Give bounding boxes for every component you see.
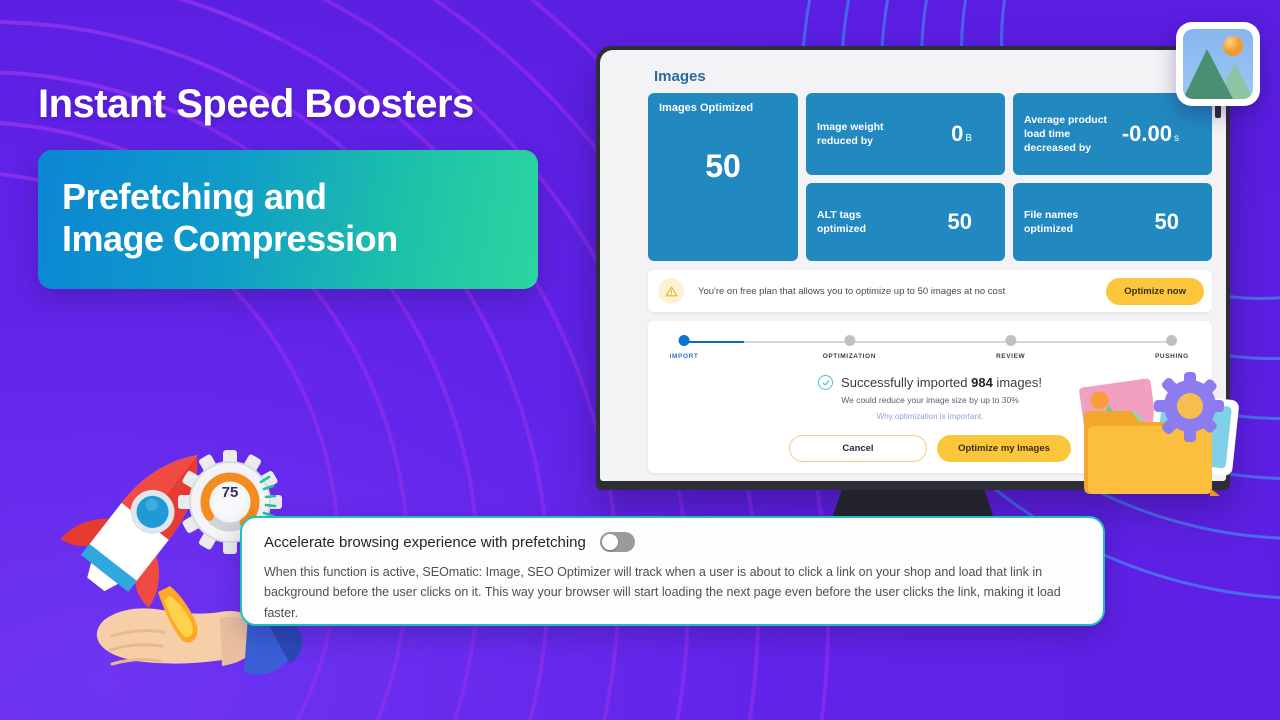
step-label: REVIEW: [996, 353, 1025, 360]
free-plan-text: You're on free plan that allows you to o…: [698, 286, 1106, 297]
page-title: Instant Speed Boosters: [38, 82, 558, 126]
prefetch-header: Accelerate browsing experience with pref…: [264, 532, 1083, 552]
badge-photo: [1183, 29, 1253, 99]
photo-mountain-icon: [1176, 22, 1260, 118]
success-prefix: Successfully imported: [841, 375, 971, 390]
step-label: PUSHING: [1155, 353, 1189, 360]
stat-card-file-names: File names optimized 50: [1013, 183, 1212, 261]
stat-unit: B: [965, 133, 972, 144]
subtitle-card: Prefetching and Image Compression: [38, 150, 538, 289]
step-dot: [678, 335, 689, 346]
subtitle-line-1: Prefetching and: [62, 176, 514, 218]
stepper-track: [684, 341, 1176, 343]
import-success-title: Successfully imported 984 images!: [841, 375, 1042, 390]
toggle-knob: [602, 534, 618, 550]
stat-unit: s: [1174, 133, 1179, 144]
step-dot: [1166, 335, 1177, 346]
wizard-stepper: IMPORT OPTIMIZATION REVIEW PUSHING: [678, 335, 1182, 365]
step-optimization[interactable]: OPTIMIZATION: [823, 335, 876, 360]
optimize-now-button[interactable]: Optimize now: [1106, 278, 1204, 305]
cancel-button[interactable]: Cancel: [789, 435, 927, 462]
stat-label: Image weight reduced by: [817, 120, 909, 148]
step-review[interactable]: REVIEW: [996, 335, 1025, 360]
stats-grid: Images Optimized 50 Image weight reduced…: [648, 93, 1212, 261]
gauge-value: 75: [178, 484, 282, 501]
stat-card-image-weight: Image weight reduced by 0B: [806, 93, 1005, 175]
prefetch-setting-card: Accelerate browsing experience with pref…: [240, 516, 1105, 626]
folder-gear-photos-icon: [1062, 362, 1262, 522]
optimize-my-images-button[interactable]: Optimize my Images: [937, 435, 1071, 462]
stat-number: -0.00: [1122, 121, 1172, 146]
step-label: OPTIMIZATION: [823, 353, 876, 360]
badge-frame: [1176, 22, 1260, 106]
prefetch-toggle[interactable]: [600, 532, 635, 552]
success-suffix: images!: [993, 375, 1042, 390]
stat-label: Average product load time decreased by: [1024, 113, 1116, 156]
stat-card-images-optimized: Images Optimized 50: [648, 93, 798, 261]
step-import[interactable]: IMPORT: [670, 335, 699, 360]
stat-value: 50: [705, 148, 741, 185]
stat-number: 0: [951, 121, 963, 146]
stat-value: -0.00s: [1122, 121, 1179, 147]
step-dot: [1005, 335, 1016, 346]
section-heading-images: Images: [654, 68, 1212, 85]
stat-label: Images Optimized: [659, 102, 787, 114]
step-dot: [844, 335, 855, 346]
stat-value: 0B: [951, 121, 972, 147]
headline-block: Instant Speed Boosters Prefetching and I…: [38, 82, 558, 289]
prefetch-description: When this function is active, SEOmatic: …: [264, 562, 1083, 623]
step-pushing[interactable]: PUSHING: [1155, 335, 1189, 360]
stat-value: 50: [948, 209, 972, 235]
success-count: 984: [971, 375, 993, 390]
stat-label: File names optimized: [1024, 208, 1116, 236]
stat-label: ALT tags optimized: [817, 208, 909, 236]
prefetch-title: Accelerate browsing experience with pref…: [264, 534, 586, 551]
warning-triangle-icon: [658, 278, 684, 304]
stat-value: 50: [1155, 209, 1179, 235]
subtitle-line-2: Image Compression: [62, 218, 514, 260]
step-label: IMPORT: [670, 353, 699, 360]
stat-card-alt-tags: ALT tags optimized 50: [806, 183, 1005, 261]
check-circle-icon: [818, 375, 833, 390]
free-plan-banner: You're on free plan that allows you to o…: [648, 270, 1212, 312]
why-optimization-link[interactable]: Why optimization is important.: [877, 412, 984, 421]
